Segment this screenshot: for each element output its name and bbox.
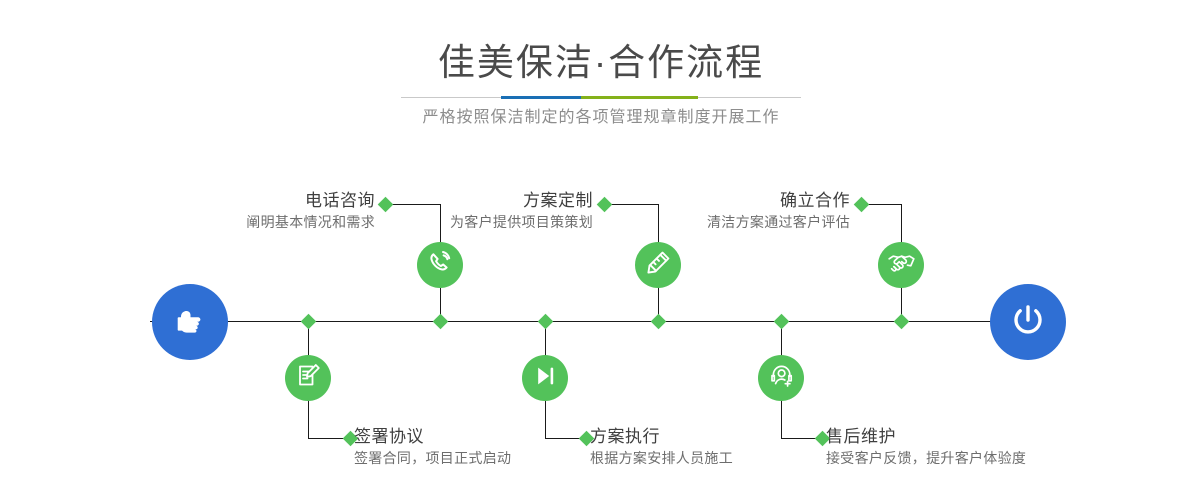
pencil-ruler-icon (644, 249, 672, 282)
label-marker-step-3 (597, 197, 613, 213)
axis-marker-step-1 (433, 314, 449, 330)
step-label-1: 电话咨询 阐明基本情况和需求 (215, 190, 375, 233)
step-label-5: 确立合作 清洁方案通过客户评估 (680, 190, 850, 233)
page-subtitle: 严格按照保洁制定的各项管理规章制度开展工作 (0, 106, 1202, 130)
timeline-end-endpoint[interactable] (990, 284, 1066, 360)
power-icon (1007, 299, 1049, 346)
step-subtitle-6: 接受客户反馈，提升客户体验度 (826, 448, 1126, 469)
label-marker-step-5 (854, 197, 870, 213)
header: 佳美保洁·合作流程 严格按照保洁制定的各项管理规章制度开展工作 (0, 0, 1202, 140)
step-subtitle-3: 为客户提供项目策策划 (430, 212, 593, 233)
step-label-6: 售后维护 接受客户反馈，提升客户体验度 (826, 426, 1126, 469)
step-title-4: 方案执行 (590, 426, 840, 448)
step-icon-6[interactable] (758, 355, 804, 401)
step-icon-3[interactable] (635, 242, 681, 288)
step-icon-1[interactable] (417, 242, 463, 288)
timeline-axis (150, 321, 1052, 322)
step-title-2: 签署协议 (354, 426, 614, 448)
play-skip-icon (532, 363, 558, 394)
axis-marker-step-2 (301, 314, 317, 330)
step-title-5: 确立合作 (680, 190, 850, 212)
step-label-4: 方案执行 根据方案安排人员施工 (590, 426, 840, 469)
pointing-hand-icon (170, 300, 210, 345)
page-title: 佳美保洁·合作流程 (0, 40, 1202, 86)
step-title-1: 电话咨询 (215, 190, 375, 212)
axis-marker-step-5 (894, 314, 910, 330)
headset-support-icon (768, 362, 795, 394)
step-icon-2[interactable] (285, 355, 331, 401)
step-icon-5[interactable] (878, 242, 924, 288)
axis-marker-step-6 (774, 314, 790, 330)
step-title-3: 方案定制 (430, 190, 593, 212)
step-label-2: 签署协议 签署合同，项目正式启动 (354, 426, 614, 469)
title-divider (401, 96, 801, 99)
axis-marker-step-3 (651, 314, 667, 330)
step-subtitle-2: 签署合同，项目正式启动 (354, 448, 614, 469)
cooperation-process-infographic: 佳美保洁·合作流程 严格按照保洁制定的各项管理规章制度开展工作 (0, 0, 1202, 502)
step-subtitle-5: 清洁方案通过客户评估 (680, 212, 850, 233)
document-edit-icon (295, 362, 322, 394)
handshake-icon (887, 248, 916, 282)
divider-green-segment (581, 96, 698, 99)
step-subtitle-4: 根据方案安排人员施工 (590, 448, 840, 469)
phone-call-icon (426, 249, 454, 282)
step-label-3: 方案定制 为客户提供项目策策划 (430, 190, 593, 233)
divider-blue-segment (501, 96, 581, 99)
connector-step-3-horizontal (605, 204, 659, 205)
step-title-6: 售后维护 (826, 426, 1126, 448)
axis-marker-step-4 (538, 314, 554, 330)
step-icon-4[interactable] (522, 355, 568, 401)
step-subtitle-1: 阐明基本情况和需求 (215, 212, 375, 233)
label-marker-step-1 (378, 197, 394, 213)
timeline-start-endpoint[interactable] (152, 284, 228, 360)
